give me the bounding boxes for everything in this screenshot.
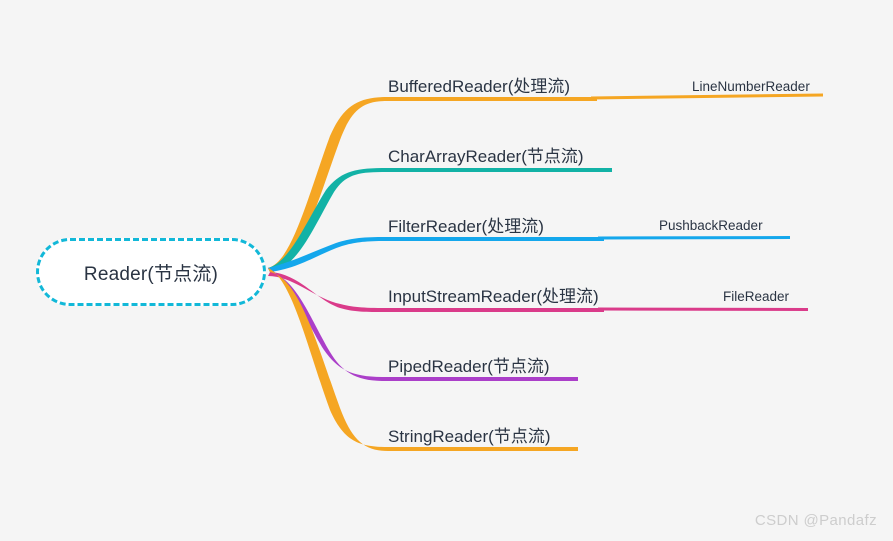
branch-label-char-array-reader[interactable]: CharArrayReader(节点流): [388, 148, 584, 165]
root-node-label: Reader(节点流): [84, 259, 218, 286]
subbranch-label-line-number-reader[interactable]: LineNumberReader: [692, 80, 810, 94]
root-node[interactable]: Reader(节点流): [36, 238, 266, 306]
branch-label-input-stream-reader[interactable]: InputStreamReader(处理流): [388, 288, 599, 305]
branch-label-buffered-reader[interactable]: BufferedReader(处理流): [388, 78, 570, 95]
subbranch-label-pushback-reader[interactable]: PushbackReader: [659, 219, 763, 233]
branch-label-piped-reader[interactable]: PipedReader(节点流): [388, 358, 550, 375]
branch-label-filter-reader[interactable]: FilterReader(处理流): [388, 218, 544, 235]
mindmap-canvas: Reader(节点流) BufferedReader(处理流) LineNumb…: [0, 0, 893, 541]
branch-path-0: [268, 97, 597, 272]
branch-label-string-reader[interactable]: StringReader(节点流): [388, 428, 551, 445]
subbranch-path-0: [591, 94, 823, 100]
subbranch-path-2: [598, 236, 790, 240]
watermark: CSDN @Pandafz: [755, 512, 877, 529]
branch-path-2: [268, 237, 604, 272]
subbranch-path-3: [598, 308, 808, 312]
subbranch-label-file-reader[interactable]: FileReader: [723, 290, 789, 304]
